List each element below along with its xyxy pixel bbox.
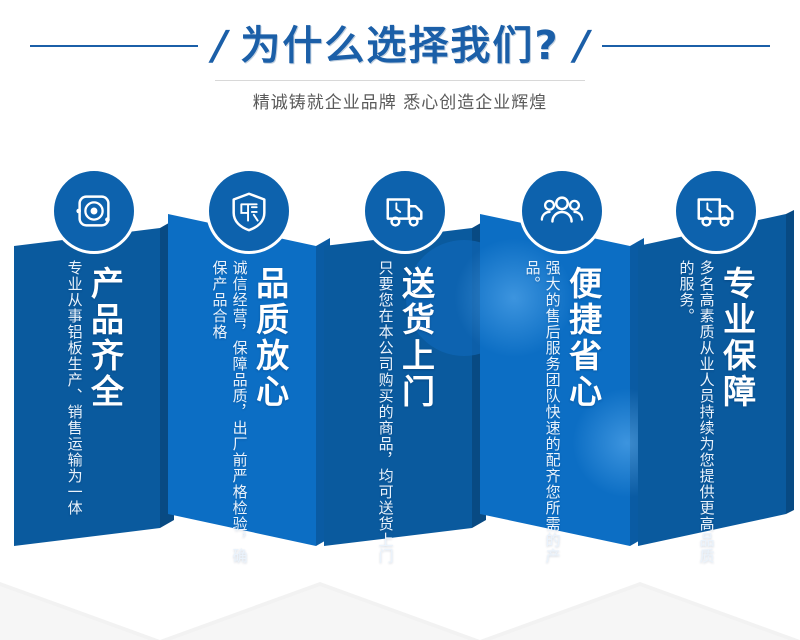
title-rule-right [602, 45, 770, 47]
feature-panel-convenience[interactable]: 便捷省心 强大的售后服务团队快速的配齐您所需的产品。 [480, 168, 644, 588]
panel-4-title: 便捷省心 [565, 266, 600, 410]
feature-panel-delivery[interactable]: 送货上门 只要您在本公司购买的商品，均可送货上门 [324, 168, 486, 588]
panel-1-icon-badge [51, 168, 137, 254]
feature-panel-professional[interactable]: 专业保障 多名高素质从业人员持续为您提供更高品质的服务。 [638, 168, 794, 588]
delivery-truck-icon [693, 188, 739, 234]
slash-right-decoration: / [569, 26, 592, 66]
page-title: 为什么选择我们? [240, 26, 559, 66]
delivery-truck-icon [382, 188, 428, 234]
panel-2-desc: 诚信经营，保障品质，出厂前严格检验，确保产品合格 [209, 260, 249, 572]
feature-panel-product[interactable]: 产品齐全 专业从事铝板生产、销售运输为一体 [14, 168, 174, 588]
panel-5-icon-badge [673, 168, 759, 254]
panel-2-text: 品质放心 诚信经营，保障品质，出厂前严格检验，确保产品合格 [168, 260, 330, 580]
page-header: / 为什么选择我们? / 精诚铸就企业品牌 悉心创造企业辉煌 [0, 0, 800, 130]
feature-panel-quality[interactable]: 品质放心 诚信经营，保障品质，出厂前严格检验，确保产品合格 [168, 168, 330, 588]
people-group-icon [539, 188, 585, 234]
title-row: / 为什么选择我们? / [0, 18, 800, 74]
panel-5-title: 专业保障 [719, 266, 754, 410]
panel-1-text: 产品齐全 专业从事铝板生产、销售运输为一体 [14, 260, 174, 580]
panel-3-text: 送货上门 只要您在本公司购买的商品，均可送货上门 [324, 260, 486, 580]
panel-2-title: 品质放心 [252, 266, 287, 410]
panel-4-text: 便捷省心 强大的售后服务团队快速的配齐您所需的产品。 [480, 260, 644, 580]
subtitle-divider [215, 80, 585, 81]
panel-3-icon-badge [362, 168, 448, 254]
feature-ribbon: 产品齐全 专业从事铝板生产、销售运输为一体 品质放心 诚信经营，保障品质，出厂前… [0, 168, 800, 588]
product-box-icon [71, 188, 117, 234]
panel-1-desc: 专业从事铝板生产、销售运输为一体 [64, 260, 84, 516]
panel-3-desc: 只要您在本公司购买的商品，均可送货上门 [375, 260, 395, 564]
panel-2-icon-badge [206, 168, 292, 254]
slash-left-decoration: / [208, 26, 231, 66]
shield-quality-icon [226, 188, 272, 234]
panel-3-title: 送货上门 [398, 266, 433, 410]
panel-4-desc: 强大的售后服务团队快速的配齐您所需的产品。 [522, 260, 562, 572]
panel-4-icon-badge [519, 168, 605, 254]
page-subtitle: 精诚铸就企业品牌 悉心创造企业辉煌 [0, 88, 800, 113]
panel-5-desc: 多名高素质从业人员持续为您提供更高品质的服务。 [676, 260, 716, 572]
page-root: / 为什么选择我们? / 精诚铸就企业品牌 悉心创造企业辉煌 [0, 0, 800, 640]
panel-5-text: 专业保障 多名高素质从业人员持续为您提供更高品质的服务。 [638, 260, 794, 580]
title-rule-left [30, 45, 198, 47]
panel-1-title: 产品齐全 [87, 266, 122, 410]
